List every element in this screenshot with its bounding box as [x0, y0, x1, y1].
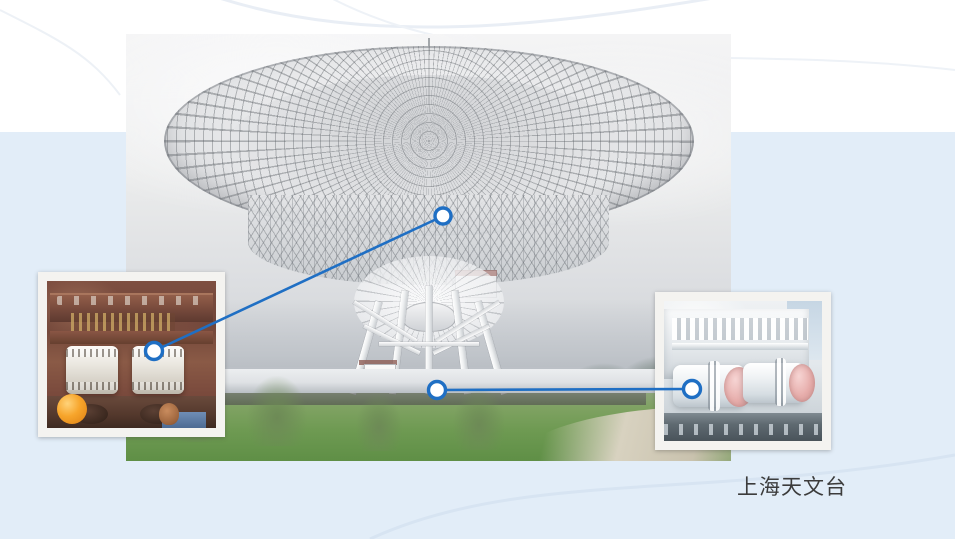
telescope-dish [164, 40, 694, 290]
old-bearing-bolt-ring [66, 382, 118, 390]
rusty-lower-beam [50, 331, 212, 344]
inset-left-image [47, 281, 216, 428]
slide-canvas: 上海天文台 [0, 0, 955, 539]
old-bearing-bolt-ring [132, 349, 184, 357]
inset-photo-rusty-bearings [38, 272, 225, 437]
inset-right-image [664, 301, 822, 441]
pedestal-brace [379, 342, 479, 346]
new-bearing-flange [708, 361, 720, 411]
photo-shrub [453, 388, 505, 450]
clean-rail [672, 343, 808, 350]
photo-shrub [247, 376, 307, 446]
old-bearing-bolt-ring [132, 382, 184, 390]
worker-head [159, 403, 179, 425]
inset-photo-refurbished-bearings [655, 292, 831, 450]
old-bearing-drum [132, 346, 184, 394]
old-bearing-drum [66, 346, 118, 394]
clean-cooling-fins [672, 318, 808, 340]
rusty-bolt-row [57, 296, 206, 305]
rusty-gear-teeth [71, 313, 176, 332]
photo-shrub [356, 393, 402, 451]
new-bearing-flange [775, 358, 786, 406]
old-bearing-bolt-ring [66, 349, 118, 357]
photo-caption: 上海天文台 [737, 471, 847, 501]
new-bearing-end-cap [789, 364, 815, 402]
orange-sphere-object [57, 394, 87, 424]
clean-base-bolts [664, 424, 822, 435]
